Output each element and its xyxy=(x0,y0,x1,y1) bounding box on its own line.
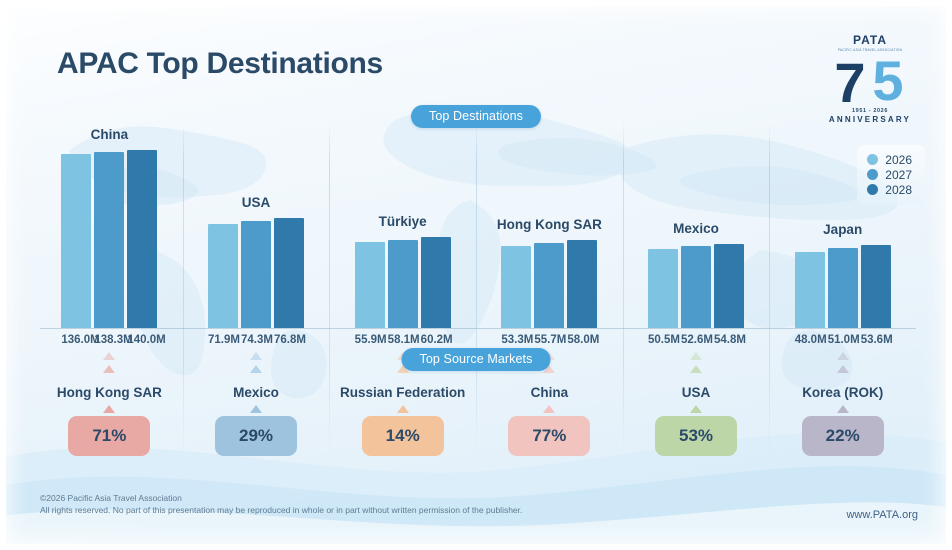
bars xyxy=(183,128,330,328)
group-label: Hong Kong SAR xyxy=(476,217,623,232)
value-group: 50.5M52.6M54.8M xyxy=(623,334,770,346)
infographic-canvas: APAC Top Destinations PATA PACIFIC ASIA … xyxy=(0,0,952,550)
triangle-up-icon xyxy=(103,352,115,360)
triangle-marker-stack xyxy=(837,352,849,382)
group-label: Japan xyxy=(769,222,916,237)
bar-2026[interactable] xyxy=(501,246,531,328)
bar-2027[interactable] xyxy=(681,246,711,328)
destinations-bar-chart: ChinaUSATürkiyeHong Kong SARMexicoJapan xyxy=(36,128,916,328)
legend-item-label: 2026 xyxy=(885,153,912,167)
source-market-share-chip[interactable]: 29% xyxy=(215,416,297,456)
legend-item: 2026 xyxy=(867,152,912,167)
legend-swatch-icon xyxy=(867,184,878,195)
triangle-marker-stack xyxy=(103,352,115,382)
legend-item-label: 2028 xyxy=(885,183,912,197)
bar-value-label: 50.5M xyxy=(648,334,678,346)
legend-item-label: 2027 xyxy=(885,168,912,182)
source-market-label: Russian Federation xyxy=(340,385,465,401)
bar-2026[interactable] xyxy=(61,154,91,328)
bar-value-label: 138.3M xyxy=(94,334,124,346)
triangle-marker-stack xyxy=(250,352,262,382)
triangle-marker-stack xyxy=(690,352,702,382)
bar-2028[interactable] xyxy=(274,218,304,328)
triangle-up-icon xyxy=(250,365,262,373)
svg-text:5: 5 xyxy=(872,49,903,112)
value-group: 55.9M58.1M60.2M xyxy=(329,334,476,346)
triangle-up-icon xyxy=(837,352,849,360)
bar-value-label: 55.7M xyxy=(534,334,564,346)
triangle-up-icon xyxy=(690,365,702,373)
source-market-share-chip[interactable]: 22% xyxy=(802,416,884,456)
bar-group-t-rkiye: Türkiye xyxy=(329,128,476,328)
source-market-label: USA xyxy=(682,385,711,401)
bar-2027[interactable] xyxy=(241,221,271,328)
bar-value-label: 54.8M xyxy=(714,334,744,346)
source-market-share-chip[interactable]: 53% xyxy=(655,416,737,456)
group-label: USA xyxy=(183,195,330,210)
page-title: APAC Top Destinations xyxy=(57,47,383,81)
footer-legal: ©2026 Pacific Asia Travel Association Al… xyxy=(40,492,522,516)
bar-group-hong-kong-sar: Hong Kong SAR xyxy=(476,128,623,328)
triangle-up-icon xyxy=(690,352,702,360)
bar-2027[interactable] xyxy=(388,240,418,328)
triangle-up-icon xyxy=(103,365,115,373)
footer-website: www.PATA.org xyxy=(846,509,918,521)
bar-value-label: 51.0M xyxy=(828,334,858,346)
legend-item: 2027 xyxy=(867,167,912,182)
bar-value-label: 55.9M xyxy=(355,334,385,346)
bar-2027[interactable] xyxy=(534,243,564,328)
pata-75-anniversary-logo: PATA PACIFIC ASIA TRAVEL ASSOCIATION 7 5… xyxy=(814,26,926,126)
source-market-label: Hong Kong SAR xyxy=(57,385,162,401)
legend-item: 2028 xyxy=(867,182,912,197)
bar-value-label: 140.0M xyxy=(127,334,157,346)
group-label: Mexico xyxy=(623,221,770,236)
source-market-share-chip[interactable]: 77% xyxy=(508,416,590,456)
value-group: 53.3M55.7M58.0M xyxy=(476,334,623,346)
bar-value-label: 60.2M xyxy=(421,334,451,346)
triangle-up-icon xyxy=(103,405,115,413)
legend-swatch-icon xyxy=(867,169,878,180)
source-market-label: Korea (ROK) xyxy=(802,385,883,401)
source-market-share-chip[interactable]: 71% xyxy=(68,416,150,456)
bar-2028[interactable] xyxy=(714,244,744,328)
footer-copyright: ©2026 Pacific Asia Travel Association xyxy=(40,492,522,504)
bar-value-label: 52.6M xyxy=(681,334,711,346)
svg-text:ANNIVERSARY: ANNIVERSARY xyxy=(829,115,911,124)
source-market-mexico: Mexico29% xyxy=(183,352,330,477)
bar-2028[interactable] xyxy=(567,240,597,328)
group-label: Türkiye xyxy=(329,214,476,229)
chart-baseline xyxy=(40,328,916,329)
bars xyxy=(36,128,183,328)
bar-value-labels: 136.0M138.3M140.0M71.9M74.3M76.8M55.9M58… xyxy=(36,334,916,346)
bar-value-label: 76.8M xyxy=(274,334,304,346)
value-group: 136.0M138.3M140.0M xyxy=(36,334,183,346)
badge-top-destinations: Top Destinations xyxy=(411,105,541,128)
chart-legend: 2026 2027 2028 xyxy=(857,145,925,205)
bar-group-usa: USA xyxy=(183,128,330,328)
source-market-hong-kong-sar: Hong Kong SAR71% xyxy=(36,352,183,477)
bar-value-label: 74.3M xyxy=(241,334,271,346)
bar-value-label: 53.3M xyxy=(501,334,531,346)
bar-2026[interactable] xyxy=(355,242,385,328)
group-label: China xyxy=(36,127,183,142)
bar-value-label: 48.0M xyxy=(795,334,825,346)
bar-value-label: 71.9M xyxy=(208,334,238,346)
svg-text:PATA: PATA xyxy=(853,33,887,47)
bar-group-mexico: Mexico xyxy=(623,128,770,328)
triangle-up-icon xyxy=(250,352,262,360)
source-market-label: China xyxy=(531,385,569,401)
value-group: 48.0M51.0M53.6M xyxy=(769,334,916,346)
triangle-up-icon xyxy=(543,405,555,413)
triangle-up-icon xyxy=(837,365,849,373)
badge-top-source-markets: Top Source Markets xyxy=(402,348,551,371)
source-market-share-chip[interactable]: 14% xyxy=(362,416,444,456)
bar-2026[interactable] xyxy=(795,252,825,328)
source-market-korea-rok-: Korea (ROK)22% xyxy=(769,352,916,477)
triangle-up-icon xyxy=(690,405,702,413)
svg-text:1951 - 2026: 1951 - 2026 xyxy=(852,108,888,114)
bar-value-label: 136.0M xyxy=(61,334,91,346)
bar-value-label: 58.0M xyxy=(567,334,597,346)
bar-2028[interactable] xyxy=(127,150,157,328)
svg-text:7: 7 xyxy=(834,51,865,114)
bar-2026[interactable] xyxy=(648,249,678,328)
bar-group-china: China xyxy=(36,128,183,328)
triangle-up-icon xyxy=(837,405,849,413)
source-market-label: Mexico xyxy=(233,385,279,401)
bar-2028[interactable] xyxy=(861,245,891,328)
triangle-up-icon xyxy=(250,405,262,413)
bar-value-label: 58.1M xyxy=(388,334,418,346)
value-group: 71.9M74.3M76.8M xyxy=(183,334,330,346)
triangle-up-icon xyxy=(397,405,409,413)
legend-swatch-icon xyxy=(867,154,878,165)
bar-2027[interactable] xyxy=(828,248,858,328)
footer-rights: All rights reserved. No part of this pre… xyxy=(40,504,522,516)
bar-2028[interactable] xyxy=(421,237,451,328)
source-market-usa: USA53% xyxy=(623,352,770,477)
bar-2027[interactable] xyxy=(94,152,124,328)
bar-2026[interactable] xyxy=(208,224,238,328)
bar-value-label: 53.6M xyxy=(861,334,891,346)
